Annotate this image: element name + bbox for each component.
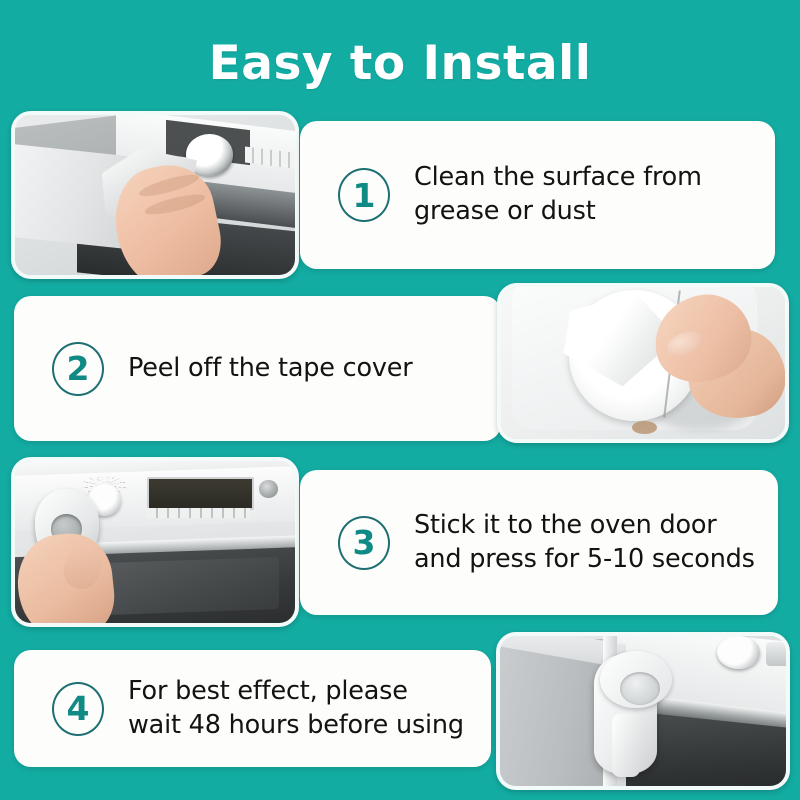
photo-3-scene bbox=[15, 461, 295, 623]
install-instructions-poster: Easy to Install 1 Clean the surface from… bbox=[0, 0, 800, 800]
photo-1-scene bbox=[15, 115, 295, 275]
oven-display-screen bbox=[147, 477, 255, 510]
photo-2-scene bbox=[501, 287, 785, 439]
step-number-badge-2: 2 bbox=[52, 342, 104, 396]
step-number-badge-3: 3 bbox=[338, 516, 390, 570]
step-photo-4 bbox=[496, 632, 790, 790]
step-card-3: 3 Stick it to the oven door and press fo… bbox=[300, 470, 778, 615]
step-card-1: 1 Clean the surface from grease or dust bbox=[300, 121, 775, 269]
step-card-4: 4 For best effect, please wait 48 hours … bbox=[14, 650, 491, 767]
oven-knob-icon bbox=[717, 636, 760, 669]
step-card-2: 2 Peel off the tape cover bbox=[14, 296, 501, 441]
oven-control-block bbox=[766, 642, 790, 666]
photo-4-scene bbox=[500, 636, 786, 786]
page-title: Easy to Install bbox=[0, 36, 800, 91]
step-number-badge-1: 1 bbox=[338, 168, 390, 222]
oven-lock-arm bbox=[612, 714, 641, 777]
step-photo-1 bbox=[11, 111, 299, 279]
step-text-4: For best effect, please wait 48 hours be… bbox=[128, 675, 464, 742]
step-text-1: Clean the surface from grease or dust bbox=[414, 161, 702, 228]
oven-lock-button bbox=[620, 672, 660, 705]
step-text-3: Stick it to the oven door and press for … bbox=[414, 509, 755, 576]
oven-keypad bbox=[147, 508, 251, 518]
step-number-badge-4: 4 bbox=[52, 682, 104, 736]
step-text-2: Peel off the tape cover bbox=[128, 352, 413, 386]
step-photo-3 bbox=[11, 457, 299, 627]
step-photo-2 bbox=[497, 283, 789, 443]
